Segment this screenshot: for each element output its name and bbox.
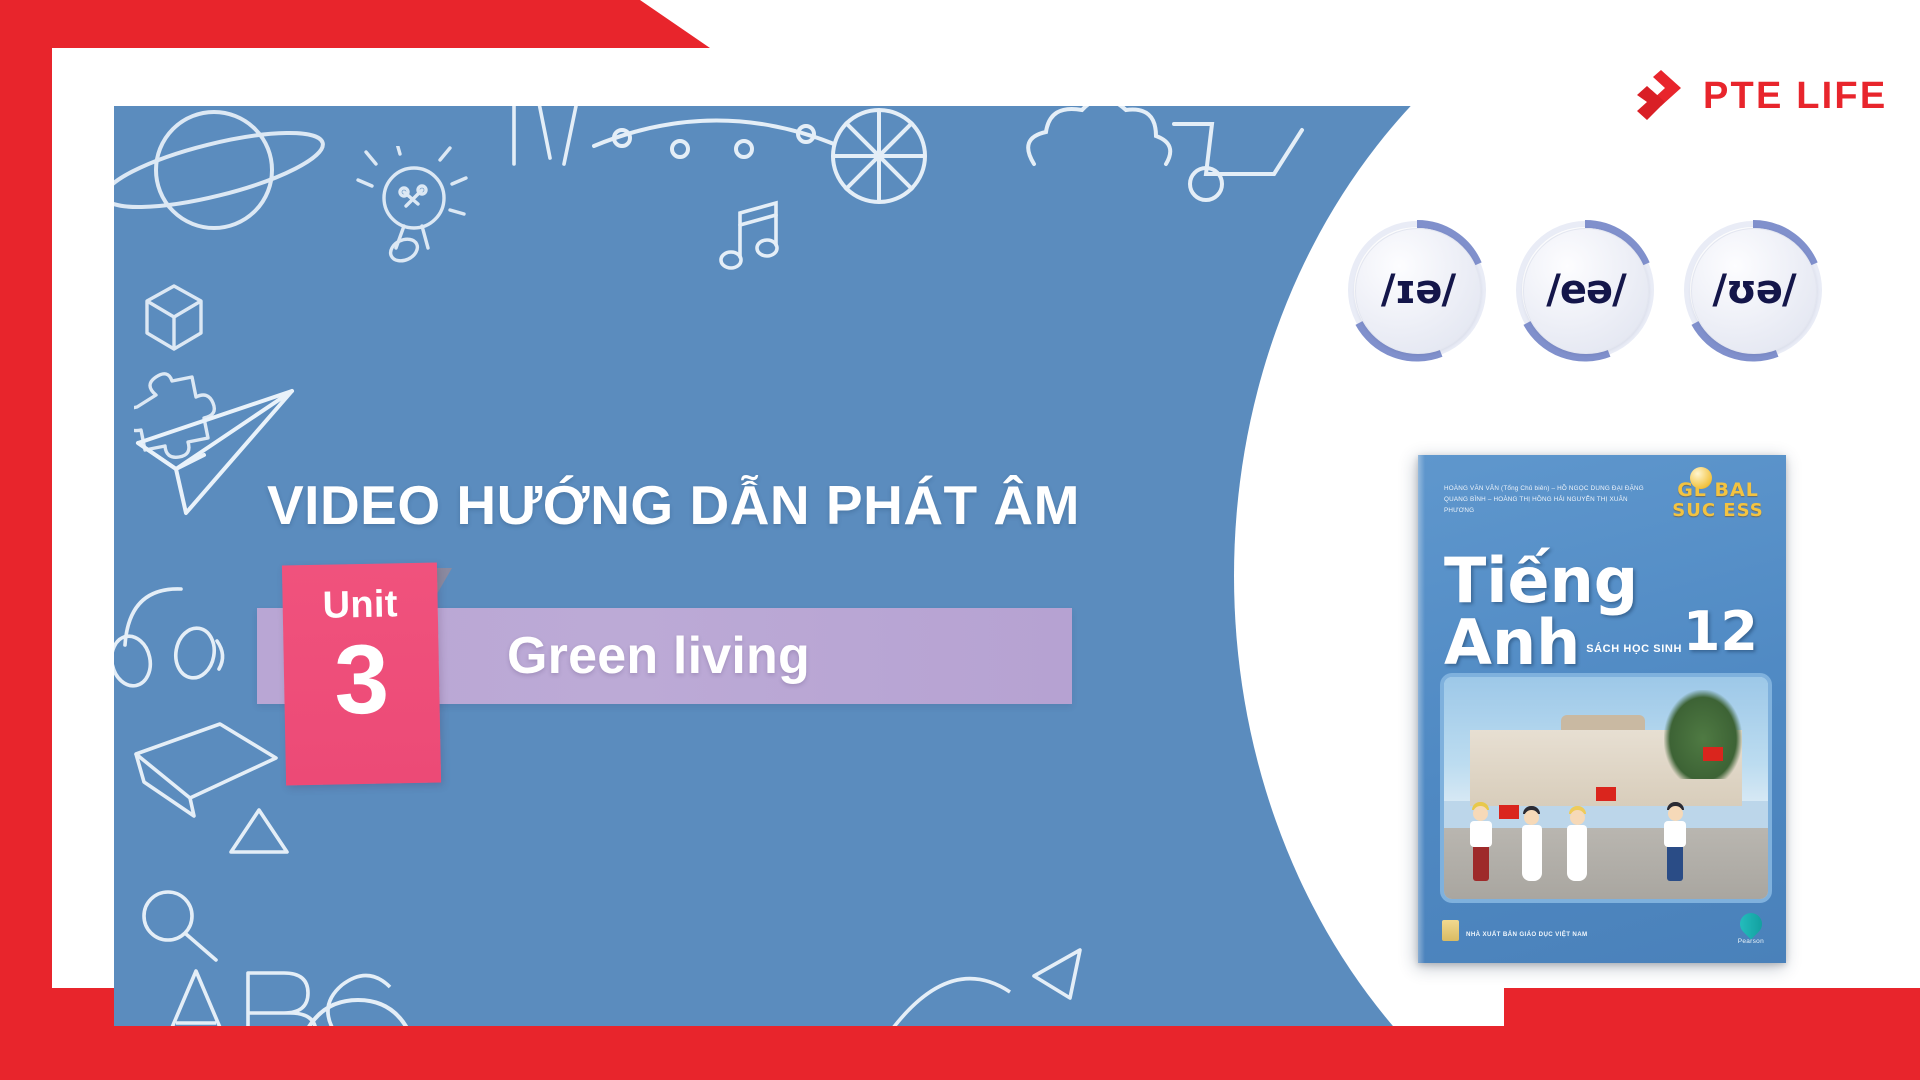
phonetic-symbol: /ʊə/ — [1712, 270, 1795, 310]
publisher-logo-icon — [1442, 920, 1459, 941]
partner-logo: Pearson — [1738, 913, 1764, 945]
photo-flag-3 — [1703, 747, 1723, 761]
ruler-doodle-icon — [494, 106, 604, 184]
series-line-2: SUC ESS — [1672, 502, 1763, 520]
photo-ground — [1444, 828, 1768, 899]
photo-flag-1 — [1499, 805, 1519, 819]
photo-student-2 — [1522, 806, 1542, 881]
book-spine — [1418, 455, 1425, 963]
bracket-doodle-icon — [274, 966, 474, 1026]
phonetic-symbol: /eə/ — [1546, 270, 1625, 310]
planet-doodle-icon — [114, 106, 334, 268]
photo-tree — [1664, 690, 1742, 779]
photo-flag-2 — [1596, 787, 1616, 801]
brand-logo[interactable]: PTE LIFE — [1635, 68, 1887, 124]
phonetic-symbol: /ɪə/ — [1381, 270, 1455, 310]
phonetic-circle-ea[interactable]: /eə/ — [1513, 218, 1657, 362]
basketball-doodle-icon — [819, 106, 939, 216]
music-note-doodle-icon — [714, 191, 794, 286]
brand-logo-text: PTE LIFE — [1703, 77, 1887, 115]
phonetic-circle-ia[interactable]: /ɪə/ — [1345, 218, 1489, 362]
pearson-mark-icon — [1735, 908, 1766, 939]
textbook-cover: HOÀNG VĂN VÂN (Tổng Chủ biên) – HỒ NGỌC … — [1418, 455, 1786, 963]
phonetic-circle-group: /ɪə/ /eə/ /ʊə/ — [1345, 218, 1825, 362]
diamond-arrow-logo-icon — [1635, 68, 1687, 124]
slide-canvas: VIDEO HƯỚNG DẪN PHÁT ÂM Unit 3 Green liv… — [0, 0, 1920, 1080]
photo-student-3 — [1567, 806, 1587, 881]
phonetic-circle-face: /ɪə/ — [1355, 228, 1481, 354]
series-line-1: GL BAL — [1677, 481, 1759, 500]
photo-student-1 — [1470, 802, 1492, 881]
phonetic-circle-ua[interactable]: /ʊə/ — [1681, 218, 1825, 362]
lightbulb-doodle-icon — [352, 146, 472, 276]
globe-icon — [1690, 467, 1712, 489]
book-authors: HOÀNG VĂN VÂN (Tổng Chủ biên) – HỒ NGỌC … — [1444, 483, 1649, 516]
unit-badge-label: Unit — [322, 585, 398, 624]
scooter-doodle-icon — [1154, 106, 1324, 216]
page-title: VIDEO HƯỚNG DẪN PHÁT ÂM — [267, 478, 1080, 533]
publisher-name: NHÀ XUẤT BẢN GIÁO DỤC VIỆT NAM — [1466, 931, 1588, 938]
unit-badge-number: 3 — [333, 629, 389, 728]
phonetic-circle-face: /ʊə/ — [1691, 228, 1817, 354]
book-grade: 12 — [1683, 605, 1758, 659]
cube-doodle-icon — [129, 271, 219, 361]
phonetic-circle-face: /eə/ — [1523, 228, 1649, 354]
topic-title: Green living — [507, 623, 810, 691]
photo-student-4 — [1664, 802, 1686, 881]
red-top-banner — [0, 0, 720, 48]
book-footer: NHÀ XUẤT BẢN GIÁO DỤC VIỆT NAM Pearson — [1418, 901, 1786, 963]
unit-badge: Unit 3 — [282, 563, 441, 786]
triangle-doodle-icon — [219, 796, 299, 866]
global-success-badge: GL BAL SUC ESS — [1664, 469, 1772, 531]
book-cover-photo — [1440, 673, 1772, 903]
book-subtitle: SÁCH HỌC SINH — [1586, 643, 1682, 655]
pencil-doodle-icon — [874, 936, 1094, 1026]
red-left-bar — [0, 0, 52, 1080]
headphones-doodle-icon — [114, 561, 259, 711]
